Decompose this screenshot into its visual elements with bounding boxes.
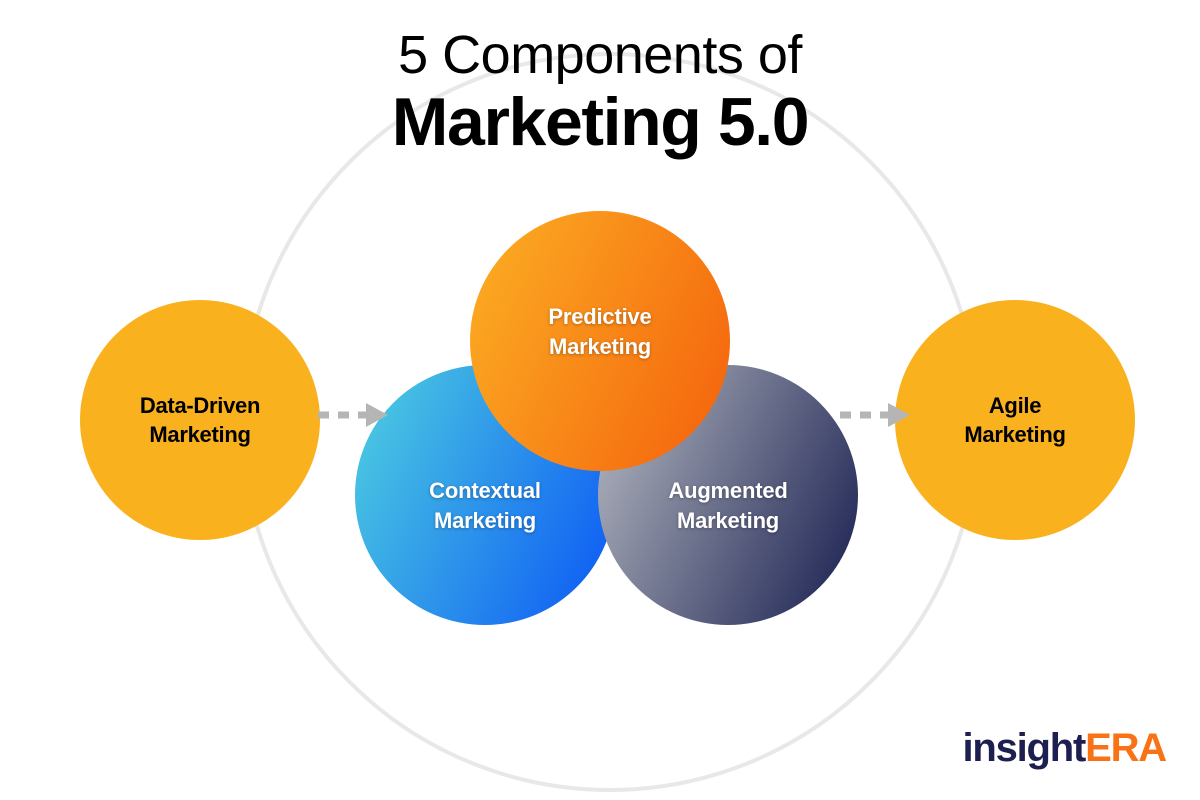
circle-data-driven-marketing[interactable]: Data-Driven Marketing bbox=[80, 300, 320, 540]
circle-predictive-marketing-label: Predictive Marketing bbox=[548, 302, 651, 380]
circle-agile-marketing-label: Agile Marketing bbox=[952, 391, 1077, 449]
circle-data-driven-marketing-label: Data-Driven Marketing bbox=[128, 391, 272, 449]
arrow-data-driven-to-venn bbox=[316, 400, 392, 430]
arrow-venn-to-agile bbox=[838, 400, 914, 430]
brand-logo-insight: insight bbox=[962, 726, 1085, 770]
circle-contextual-marketing-label: Contextual Marketing bbox=[429, 454, 541, 536]
arrow-right-head bbox=[888, 403, 910, 427]
infographic-canvas: 5 Components of Marketing 5.0 Data-Drive… bbox=[0, 0, 1200, 800]
circle-predictive-marketing[interactable]: Predictive Marketing bbox=[470, 211, 730, 471]
circle-augmented-marketing-label: Augmented Marketing bbox=[668, 454, 787, 536]
arrow-left-head bbox=[366, 403, 388, 427]
brand-logo[interactable]: insightERA bbox=[962, 728, 1166, 768]
brand-logo-era: ERA bbox=[1085, 726, 1166, 770]
circle-agile-marketing[interactable]: Agile Marketing bbox=[895, 300, 1135, 540]
